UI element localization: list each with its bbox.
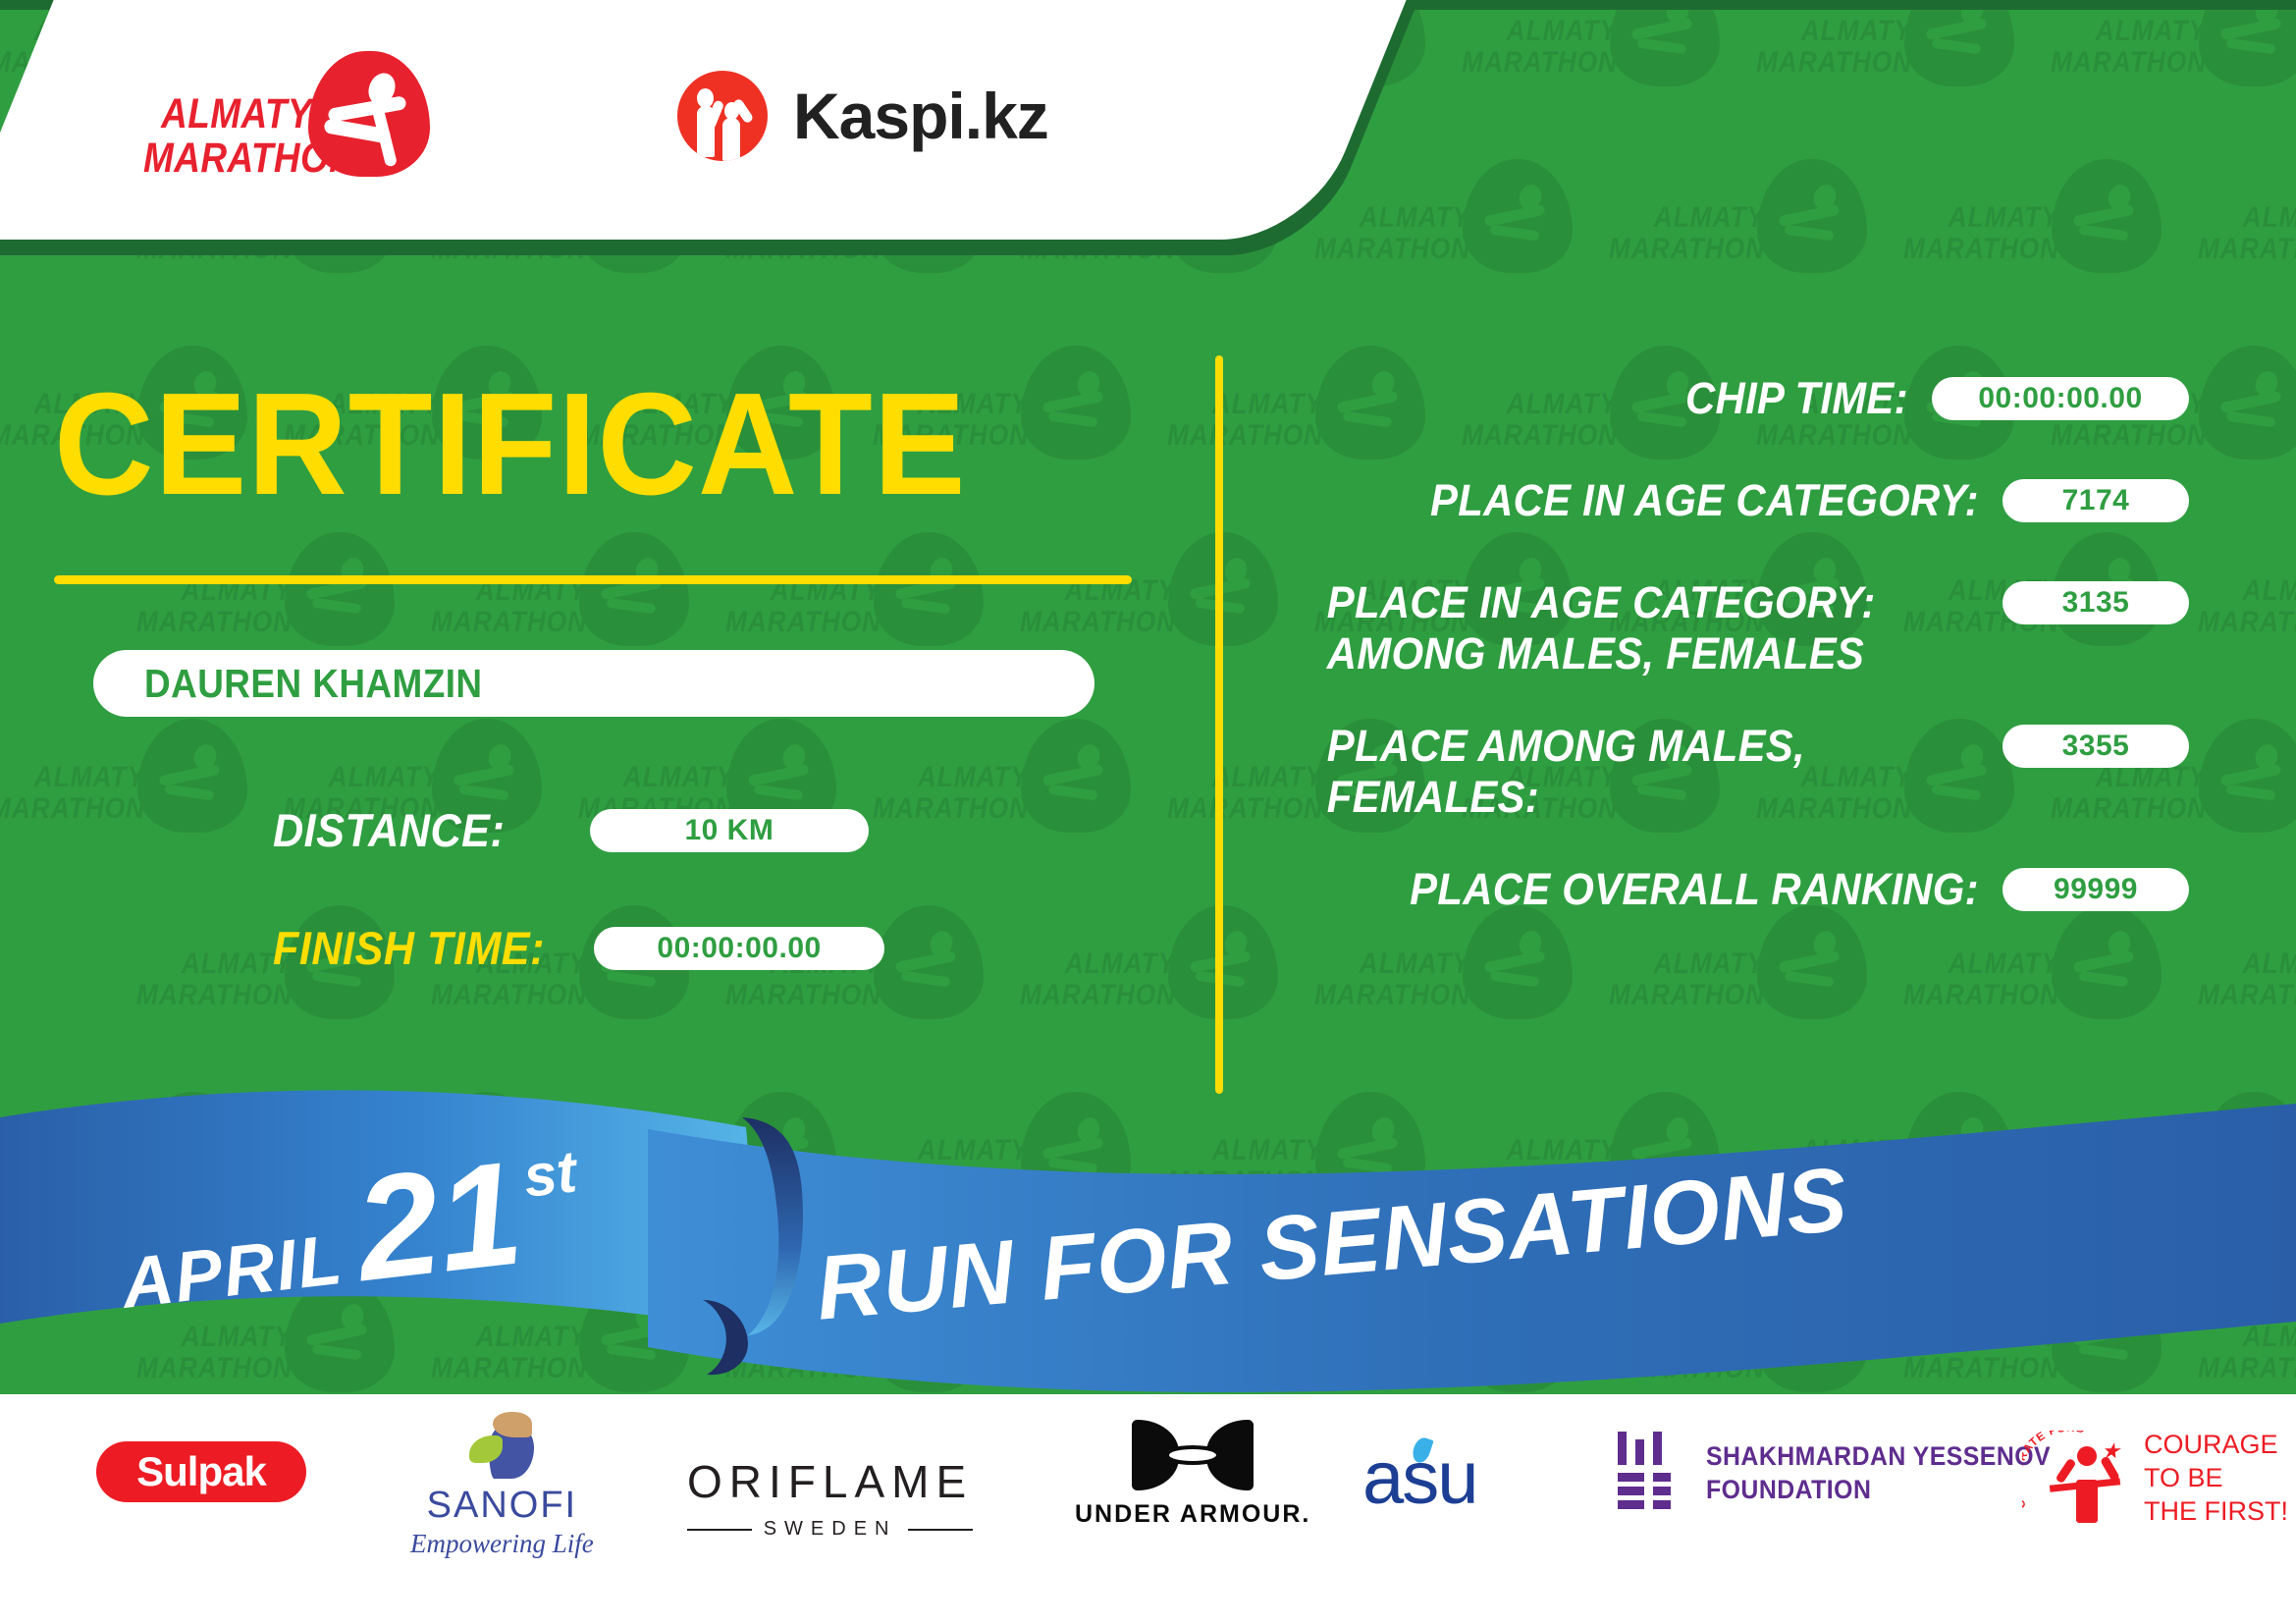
sanofi-tan-shape	[493, 1412, 532, 1437]
watermark-runner-head	[190, 741, 220, 773]
watermark-text-line2: MARATHON	[2192, 607, 2296, 637]
event-month: APRIL	[118, 1219, 347, 1325]
watermark-tile: ALMATYMARATHON	[991, 903, 1286, 1090]
sponsor-sanofi: SANOFI Empowering Life	[410, 1412, 594, 1559]
sanofi-wordmark: SANOFI	[427, 1485, 577, 1527]
watermark-text-line2: MARATHON	[2045, 47, 2207, 78]
marathon-logo-line1: ALMATY	[143, 92, 312, 136]
event-day-suffix: st	[520, 1137, 580, 1211]
watermark-runner-head	[485, 741, 514, 773]
watermark-tile: ALMATYMARATHON	[0, 717, 255, 903]
sanofi-logo	[463, 1412, 540, 1481]
watermark-text-line2: MARATHON	[425, 607, 587, 637]
oriflame-rule-left	[687, 1529, 752, 1531]
stat-value: 3355	[2002, 725, 2189, 768]
stat-row: CHIP TIME:00:00:00.00	[1276, 373, 2189, 434]
watermark-text-line1: ALMATY	[867, 762, 1029, 792]
watermark-drop-icon	[1610, 0, 1720, 86]
stat-label: CHIP TIME:	[1322, 373, 1932, 424]
sponsor-bar: Sulpak SANOFI Empowering Life ORIFLAME S…	[0, 1426, 2296, 1593]
kaspi-wordmark: Kaspi.kz	[793, 79, 1048, 153]
athlete-name-value: DAUREN KHAMZIN	[144, 661, 483, 707]
watermark-text-line2: MARATHON	[2192, 980, 2296, 1010]
watermark-text-line2: MARATHON	[720, 607, 881, 637]
title-underline-rule	[54, 575, 1132, 584]
kaspi-people-icon	[677, 71, 768, 161]
oriflame-sub: SWEDEN	[764, 1518, 897, 1541]
watermark-text-line2: MARATHON	[867, 793, 1029, 824]
stat-value: 00:00:00.00	[1932, 377, 2189, 420]
watermark-text-line1: ALMATY	[1456, 16, 1618, 46]
oriflame-wordmark: ORIFLAME	[687, 1455, 973, 1508]
watermark-drop-icon	[1168, 905, 1278, 1019]
watermark-text-line1: ALMATY	[2192, 202, 2296, 233]
results-stats-list: CHIP TIME:00:00:00.00PLACE IN AGE CATEGO…	[1276, 373, 2189, 966]
watermark-text-line2: MARATHON	[1014, 980, 1176, 1010]
watermark-runner-head	[1074, 741, 1103, 773]
watermark-runner-head	[1810, 182, 1840, 213]
corporate-fund-runner-figure: ★	[2061, 1446, 2116, 1523]
stat-row: PLACE AMONG MALES,FEMALES:3355	[1276, 721, 2189, 823]
watermark-text-line2: MARATHON	[1308, 234, 1470, 264]
watermark-text-line2: MARATHON	[425, 980, 587, 1010]
page-title: CERTIFICATE	[54, 371, 967, 518]
stat-value: 99999	[2002, 868, 2189, 911]
watermark-text-line2: MARATHON	[1456, 47, 1618, 78]
yessenov-foundation-logo	[1618, 1432, 1682, 1514]
watermark-drop-icon	[1168, 532, 1278, 646]
finish-time-label: FINISH TIME:	[273, 921, 545, 975]
watermark-runner-head	[1221, 928, 1251, 959]
stat-value: 3135	[2002, 581, 2189, 624]
watermark-text-line1: ALMATY	[0, 762, 145, 792]
cf-runner-head	[2077, 1446, 2097, 1466]
stat-value: 7174	[2002, 479, 2189, 522]
watermark-text-line1: ALMATY	[572, 762, 734, 792]
watermark-text-line2: MARATHON	[1603, 234, 1765, 264]
kaspi-logo: Kaspi.kz	[677, 67, 1048, 165]
sulpak-logo: Sulpak	[96, 1441, 306, 1502]
sponsor-asu: asu	[1362, 1435, 1477, 1521]
sponsor-yessenov-foundation: SHAKHMARDAN YESSENOVFOUNDATION	[1618, 1432, 2081, 1514]
marathon-logo-line2: MARATHON	[143, 136, 312, 181]
watermark-drop-icon	[1757, 159, 1867, 273]
watermark-drop-icon	[874, 532, 984, 646]
cf-star-icon: ★	[2101, 1440, 2120, 1462]
watermark-runner-head	[927, 928, 956, 959]
distance-row: DISTANCE: 10 KM	[273, 803, 869, 857]
athlete-name-field: DAUREN KHAMZIN	[93, 650, 1095, 717]
watermark-text-line2: MARATHON	[1603, 980, 1765, 1010]
stat-label: PLACE OVERALL RANKING:	[1327, 864, 2002, 915]
sponsor-sulpak: Sulpak	[96, 1441, 306, 1502]
stat-row: PLACE IN AGE CATEGORY:AMONG MALES, FEMAL…	[1276, 577, 2189, 679]
watermark-runner-head	[1074, 368, 1103, 400]
finish-time-value: 00:00:00.00	[594, 927, 884, 970]
watermark-drop-icon	[1021, 719, 1131, 833]
watermark-runner-head	[1516, 182, 1545, 213]
watermark-tile: ALMATYMARATHON	[1580, 157, 1875, 344]
under-armour-wordmark: UNDER ARMOUR.	[1075, 1500, 1310, 1529]
under-armour-logo	[1132, 1420, 1254, 1490]
sponsor-corporate-fund: CORPORATE FUND ★ COURAGETO BETHE FIRST!	[2022, 1428, 2288, 1528]
watermark-runner-head	[2252, 368, 2281, 400]
watermark-drop-icon	[2199, 346, 2296, 460]
watermark-tile: ALMATYMARATHON	[1875, 157, 2169, 344]
ua-center-hole	[1169, 1449, 1216, 1461]
kaspi-figure-a-head	[697, 88, 714, 108]
corporate-fund-slogan: COURAGETO BETHE FIRST!	[2144, 1428, 2288, 1528]
watermark-drop-icon	[874, 905, 984, 1019]
watermark-runner-head	[2105, 182, 2134, 213]
watermark-drop-icon	[2199, 0, 2296, 86]
watermark-tile: ALMATYMARATHON	[1728, 0, 2022, 157]
watermark-text-line2: MARATHON	[1750, 47, 1912, 78]
watermark-drop-icon	[1904, 0, 2014, 86]
sponsor-oriflame: ORIFLAME SWEDEN	[687, 1455, 973, 1541]
watermark-text-line1: ALMATY	[1014, 948, 1176, 979]
asu-logo: asu	[1362, 1435, 1477, 1521]
sponsor-under-armour: UNDER ARMOUR.	[1075, 1420, 1310, 1529]
watermark-text-line2: MARATHON	[0, 793, 145, 824]
watermark-text-line2: MARATHON	[2192, 234, 2296, 264]
kaspi-figure-b-body	[722, 118, 740, 161]
certificate-root: ALMATYMARATHONALMATYMARATHONALMATYMARATH…	[0, 0, 2296, 1624]
oriflame-sub-wrap: SWEDEN	[687, 1518, 973, 1541]
almaty-marathon-logo: ALMATY MARATHON	[116, 51, 430, 179]
finish-time-row: FINISH TIME: 00:00:00.00	[273, 921, 884, 975]
watermark-text-line1: ALMATY	[2192, 575, 2296, 606]
oriflame-rule-right	[908, 1529, 973, 1531]
watermark-text-line2: MARATHON	[131, 980, 293, 1010]
watermark-text-line1: ALMATY	[1603, 202, 1765, 233]
watermark-runner-head	[1221, 555, 1251, 586]
stat-row: PLACE OVERALL RANKING:99999	[1276, 864, 2189, 925]
column-divider	[1215, 355, 1223, 1094]
watermark-text-line1: ALMATY	[278, 762, 440, 792]
watermark-drop-icon	[285, 532, 395, 646]
watermark-text-line1: ALMATY	[2192, 948, 2296, 979]
almaty-marathon-wordmark: ALMATY MARATHON	[116, 92, 312, 181]
watermark-text-line1: ALMATY	[2045, 16, 2207, 46]
cf-runner-body	[2076, 1480, 2098, 1523]
watermark-drop-icon	[1021, 346, 1131, 460]
stat-label: PLACE AMONG MALES,FEMALES:	[1327, 721, 2002, 823]
stat-label: PLACE IN AGE CATEGORY:AMONG MALES, FEMAL…	[1327, 577, 2002, 679]
watermark-text-line1: ALMATY	[1308, 202, 1470, 233]
distance-value: 10 KM	[590, 809, 869, 852]
sanofi-tagline: Empowering Life	[410, 1529, 594, 1559]
watermark-tile: ALMATYMARATHON	[1433, 0, 1728, 157]
distance-label: DISTANCE:	[273, 803, 505, 857]
watermark-drop-icon	[2052, 159, 2162, 273]
watermark-text-line1: ALMATY	[131, 948, 293, 979]
watermark-drop-icon	[579, 532, 689, 646]
corporate-fund-runner-logo: CORPORATE FUND ★	[2022, 1431, 2126, 1525]
runner-arm-shape	[327, 95, 406, 123]
watermark-text-line1: ALMATY	[1897, 202, 2059, 233]
watermark-drop-icon	[1463, 159, 1573, 273]
watermark-tile: ALMATYMARATHON	[844, 717, 1139, 903]
watermark-tile: ALMATYMARATHON	[2169, 157, 2296, 344]
yessenov-foundation-wordmark: SHAKHMARDAN YESSENOVFOUNDATION	[1706, 1439, 2051, 1506]
stat-row: PLACE IN AGE CATEGORY:7174	[1276, 475, 2189, 536]
watermark-drop-icon	[2199, 719, 2296, 833]
watermark-text-line2: MARATHON	[1897, 980, 2059, 1010]
watermark-runner-head	[2252, 741, 2281, 773]
watermark-tile: ALMATYMARATHON	[2022, 0, 2296, 157]
event-day: 21	[348, 1138, 528, 1303]
watermark-text-line2: MARATHON	[1897, 234, 2059, 264]
watermark-drop-icon	[137, 719, 247, 833]
watermark-text-line2: MARATHON	[131, 607, 293, 637]
watermark-text-line2: MARATHON	[1014, 607, 1176, 637]
watermark-text-line1: ALMATY	[1750, 16, 1912, 46]
stat-label: PLACE IN AGE CATEGORY:	[1327, 475, 2002, 526]
watermark-runner-head	[779, 741, 809, 773]
watermark-text-line2: MARATHON	[1308, 980, 1470, 1010]
watermark-text-line2: MARATHON	[720, 980, 881, 1010]
